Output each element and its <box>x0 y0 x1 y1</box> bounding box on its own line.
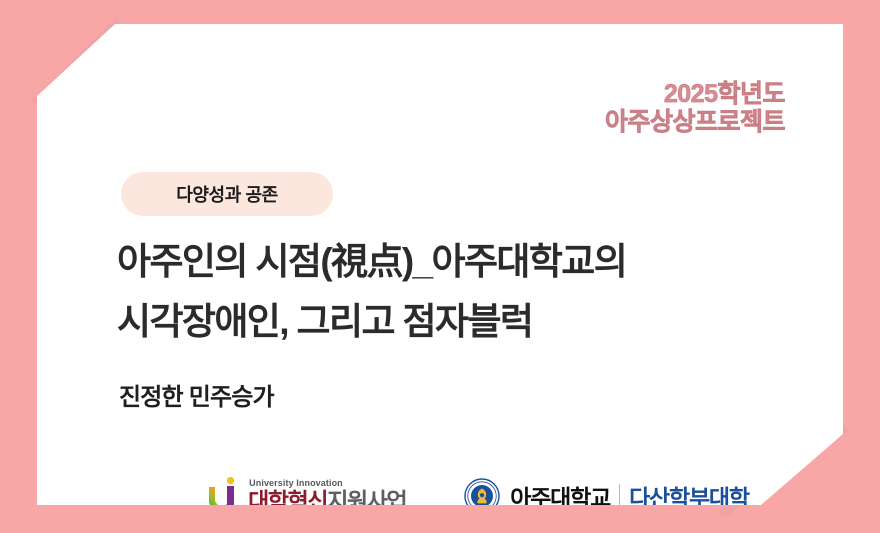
project-name-label: 아주상상프로젝트 <box>605 108 785 136</box>
ajou-university-name: 아주대학교 <box>510 479 610 513</box>
university-innovation-logo: University Innovation 대학혁신지원사업 <box>205 474 406 518</box>
academic-year-label: 2025학년도 <box>605 80 785 108</box>
ajou-university-logo: 아주대학교 다산학부대학 <box>464 474 749 518</box>
project-header: 2025학년도 아주상상프로젝트 <box>605 80 785 136</box>
ajou-seal-icon <box>464 478 500 514</box>
ajou-logo-text: 아주대학교 다산학부대학 <box>510 479 749 513</box>
poster-canvas: 2025학년도 아주상상프로젝트 다양성과 공존 아주인의 시점(視点)_아주대… <box>0 0 880 533</box>
uis-korean-rest: 지원사업 <box>327 488 406 514</box>
university-innovation-korean: 대학혁신지원사업 <box>248 490 406 513</box>
university-innovation-english: University Innovation <box>249 479 406 488</box>
white-card: 2025학년도 아주상상프로젝트 다양성과 공존 아주인의 시점(視点)_아주대… <box>37 24 843 505</box>
page-subtitle: 진정한 민주승가 <box>119 377 274 412</box>
title-line-1: 아주인의 시점(視点)_아주대학교의 <box>117 232 817 292</box>
logo-divider <box>619 484 620 508</box>
page-title: 아주인의 시점(視点)_아주대학교의 시각장애인, 그리고 점자블럭 <box>117 232 817 352</box>
uis-korean-accent: 대학혁신 <box>248 488 327 514</box>
category-badge-label: 다양성과 공존 <box>176 181 278 207</box>
ui-monogram-icon <box>205 476 241 516</box>
university-innovation-text: University Innovation 대학혁신지원사업 <box>248 479 406 513</box>
title-line-2: 시각장애인, 그리고 점자블럭 <box>117 292 817 352</box>
category-badge: 다양성과 공존 <box>121 172 333 216</box>
footer-logos: University Innovation 대학혁신지원사업 아주대학교 <box>74 467 880 525</box>
